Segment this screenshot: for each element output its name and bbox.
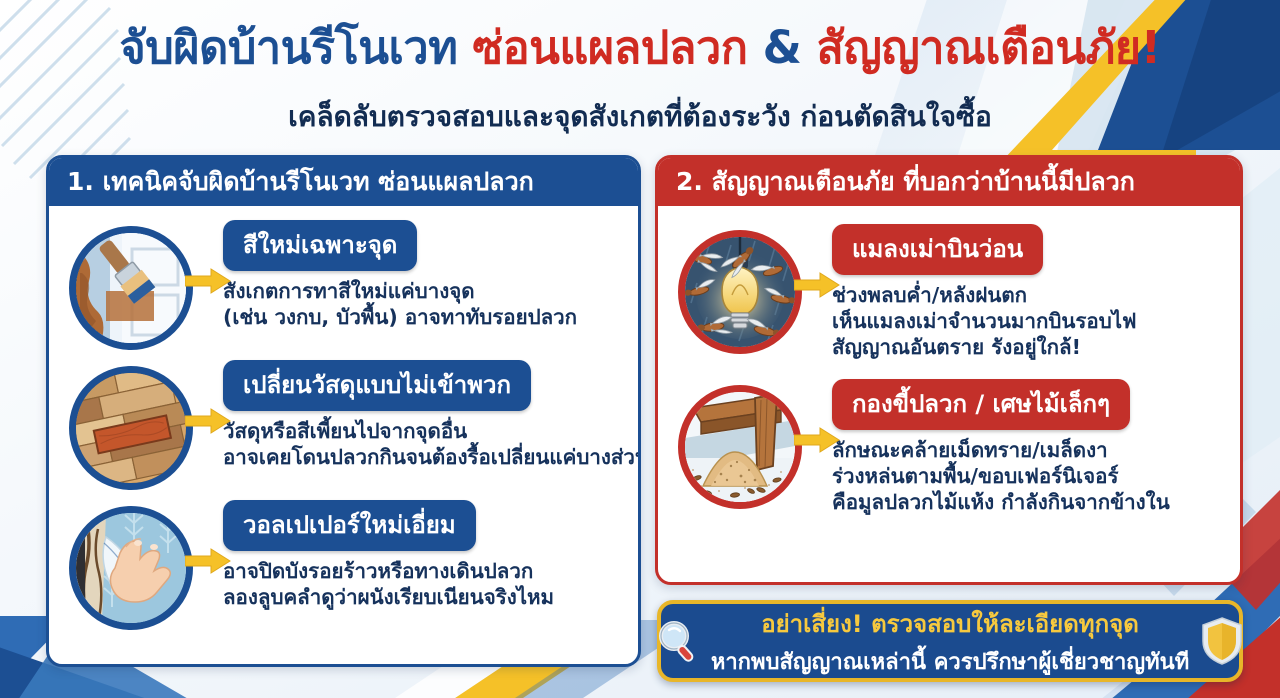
- cta-text: อย่าเสี่ยง! ตรวจสอบให้ละเอียดทุกจุด หากพ…: [705, 604, 1195, 679]
- cta-line-2: หากพบสัญญาณเหล่านี้ ควรปรึกษาผู้เชี่ยวชา…: [711, 644, 1189, 679]
- arrow-right-icon: [185, 408, 231, 434]
- title-segment-red-2: สัญญาณเตือนภัย!: [817, 21, 1161, 74]
- list-item[interactable]: กองขี้ปลวก / เศษไม้เล็กๆ ลักษณะคล้ายเม็ด…: [658, 365, 1240, 520]
- desc-line: คือมูลปลวกไม้แห้ง กำลังกินจากข้างใน: [832, 489, 1230, 515]
- row-description: ช่วงพลบค่ำ/หลังฝนตก เห็นแมลงเม่าจำนวนมาก…: [832, 282, 1230, 361]
- termite-frass-pile-under-furniture-icon: [678, 385, 802, 509]
- cta-line-1: อย่าเสี่ยง! ตรวจสอบให้ละเอียดทุกจุด: [711, 604, 1189, 643]
- list-item[interactable]: เปลี่ยนวัสดุแบบไม่เข้าพวก วัสดุหรือสีเพี…: [49, 354, 638, 494]
- row-description: วัสดุหรือสีเพี้ยนไปจากจุดอื่น อาจเคยโดนป…: [223, 418, 628, 470]
- panel-right-heading: 2. สัญญาณเตือนภัย ที่บอกว่าบ้านนี้มีปลวก: [658, 158, 1240, 206]
- arrow-right-icon: [794, 272, 840, 298]
- panel-left-body: สีใหม่เฉพาะจุด สังเกตการทาสีใหม่แค่บางจุ…: [49, 206, 638, 634]
- desc-line: สัญญาณอันตราย รังอยู่ใกล้!: [832, 334, 1230, 360]
- magnifier-icon: [655, 618, 701, 664]
- desc-line: อาจเคยโดนปลวกกินจนต้องรื้อเปลี่ยนแค่บางส…: [223, 444, 628, 470]
- header: จับผิดบ้านรีโนเวท ซ่อนแผลปลวก & สัญญาณเต…: [0, 0, 1280, 150]
- arrow-right-icon: [185, 268, 231, 294]
- list-item[interactable]: แมลงเม่าบินว่อน ช่วงพลบค่ำ/หลังฝนตก เห็น…: [658, 214, 1240, 365]
- status-badge: กองขี้ปลวก / เศษไม้เล็กๆ: [832, 379, 1130, 430]
- page-title: จับผิดบ้านรีโนเวท ซ่อนแผลปลวก & สัญญาณเต…: [0, 24, 1280, 71]
- status-badge: แมลงเม่าบินว่อน: [832, 224, 1043, 275]
- arrow-right-icon: [794, 427, 840, 453]
- status-badge: วอลเปเปอร์ใหม่เอี่ยม: [223, 500, 476, 551]
- title-segment-blue: จับผิดบ้านรีโนเวท: [119, 21, 472, 74]
- desc-line: ลักษณะคล้ายเม็ดทราย/เมล็ดงา: [832, 437, 1230, 463]
- cta-banner[interactable]: อย่าเสี่ยง! ตรวจสอบให้ละเอียดทุกจุด หากพ…: [657, 600, 1243, 682]
- desc-line: เห็นแมลงเม่าจำนวนมากบินรอบไฟ: [832, 308, 1230, 334]
- row-media: [672, 224, 824, 354]
- row-description: ลักษณะคล้ายเม็ดทราย/เมล็ดงา ร่วงหล่นตามพ…: [832, 437, 1230, 516]
- page-subtitle: เคล็ดลับตรวจสอบและจุดสังเกตที่ต้องระวัง …: [0, 95, 1280, 139]
- row-media: [63, 360, 215, 490]
- desc-line: วัสดุหรือสีเพี้ยนไปจากจุดอื่น: [223, 418, 628, 444]
- paint-brush-on-door-frame-icon: [69, 226, 193, 350]
- row-text: วอลเปเปอร์ใหม่เอี่ยม อาจปิดบังรอยร้าวหรื…: [215, 500, 628, 610]
- panel-right-body: แมลงเม่าบินว่อน ช่วงพลบค่ำ/หลังฝนตก เห็น…: [658, 206, 1240, 519]
- title-ampersand: &: [747, 21, 816, 74]
- row-media: [63, 500, 215, 630]
- panel-techniques: 1. เทคนิคจับผิดบ้านรีโนเวท ซ่อนแผลปลวก: [46, 155, 641, 667]
- magnifier-icon-wrap: [651, 618, 705, 664]
- panel-left-heading: 1. เทคนิคจับผิดบ้านรีโนเวท ซ่อนแผลปลวก: [49, 158, 638, 206]
- list-item[interactable]: วอลเปเปอร์ใหม่เอี่ยม อาจปิดบังรอยร้าวหรื…: [49, 494, 638, 634]
- desc-line: ลองลูบคลำดูว่าผนังเรียบเนียนจริงไหม: [223, 584, 628, 610]
- row-description: สังเกตการทาสีใหม่แค่บางจุด (เช่น วงกบ, บ…: [223, 278, 628, 330]
- row-text: กองขี้ปลวก / เศษไม้เล็กๆ ลักษณะคล้ายเม็ด…: [824, 379, 1230, 516]
- winged-termites-around-lightbulb-icon: [678, 230, 802, 354]
- arrow-right-icon: [185, 548, 231, 574]
- desc-line: สังเกตการทาสีใหม่แค่บางจุด: [223, 278, 628, 304]
- desc-line: อาจปิดบังรอยร้าวหรือทางเดินปลวก: [223, 558, 628, 584]
- shield-icon-wrap: [1195, 616, 1249, 666]
- shield-icon: [1199, 616, 1245, 666]
- mismatched-wood-flooring-icon: [69, 366, 193, 490]
- desc-line: (เช่น วงกบ, บัวพื้น) อาจทาทับรอยปลวก: [223, 304, 628, 330]
- hand-touching-wallpaper-icon: [69, 506, 193, 630]
- status-badge: สีใหม่เฉพาะจุด: [223, 220, 417, 271]
- row-text: แมลงเม่าบินว่อน ช่วงพลบค่ำ/หลังฝนตก เห็น…: [824, 224, 1230, 361]
- status-badge: เปลี่ยนวัสดุแบบไม่เข้าพวก: [223, 360, 531, 411]
- list-item[interactable]: สีใหม่เฉพาะจุด สังเกตการทาสีใหม่แค่บางจุ…: [49, 214, 638, 354]
- desc-line: ช่วงพลบค่ำ/หลังฝนตก: [832, 282, 1230, 308]
- row-text: สีใหม่เฉพาะจุด สังเกตการทาสีใหม่แค่บางจุ…: [215, 220, 628, 330]
- title-segment-red-1: ซ่อนแผลปลวก: [473, 21, 748, 74]
- desc-line: ร่วงหล่นตามพื้น/ขอบเฟอร์นิเจอร์: [832, 463, 1230, 489]
- panel-warning-signs: 2. สัญญาณเตือนภัย ที่บอกว่าบ้านนี้มีปลวก: [655, 155, 1243, 585]
- row-media: [672, 379, 824, 509]
- row-media: [63, 220, 215, 350]
- row-text: เปลี่ยนวัสดุแบบไม่เข้าพวก วัสดุหรือสีเพี…: [215, 360, 628, 470]
- row-description: อาจปิดบังรอยร้าวหรือทางเดินปลวก ลองลูบคล…: [223, 558, 628, 610]
